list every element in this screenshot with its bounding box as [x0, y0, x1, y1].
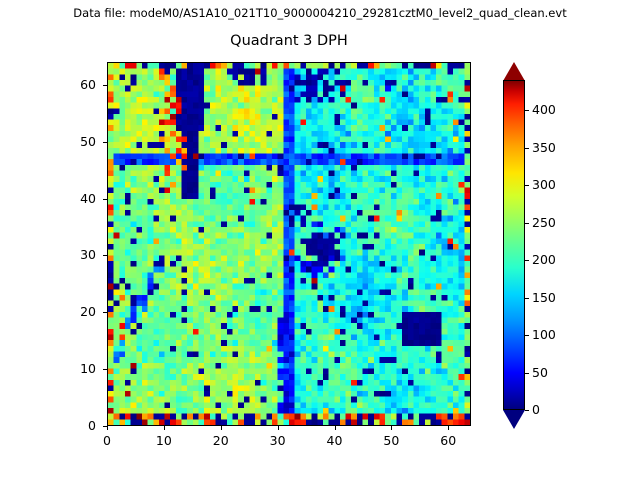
- y-tick-label: 50: [56, 134, 96, 149]
- x-tick-label: 60: [428, 433, 468, 448]
- colorbar-tick-label: 50: [532, 365, 548, 380]
- colorbar-tick-label: 150: [532, 290, 556, 305]
- x-tick-label: 30: [258, 433, 298, 448]
- colorbar-tick-mark: [525, 110, 529, 111]
- x-tick-mark: [278, 426, 279, 430]
- colorbar-tick-label: 100: [532, 327, 556, 342]
- matplotlib-figure: Data file: modeM0/AS1A10_021T10_90000042…: [0, 0, 640, 480]
- x-tick-mark: [391, 426, 392, 430]
- colorbar-tick-mark: [525, 223, 529, 224]
- x-tick-mark: [448, 426, 449, 430]
- y-tick-mark: [103, 312, 107, 313]
- colorbar-tick-label: 400: [532, 102, 556, 117]
- y-tick-mark: [103, 142, 107, 143]
- colorbar-tick-label: 300: [532, 177, 556, 192]
- colorbar-tick-mark: [525, 373, 529, 374]
- page-title: Quadrant 3 DPH: [107, 33, 471, 49]
- y-tick-mark: [103, 255, 107, 256]
- x-tick-mark: [107, 426, 108, 430]
- colorbar-tick-label: 200: [532, 252, 556, 267]
- colorbar-tick-mark: [525, 410, 529, 411]
- colorbar-tick-mark: [525, 260, 529, 261]
- x-tick-label: 20: [201, 433, 241, 448]
- y-tick-label: 60: [56, 77, 96, 92]
- colorbar-tick-mark: [525, 335, 529, 336]
- y-tick-label: 0: [56, 418, 96, 433]
- x-tick-mark: [164, 426, 165, 430]
- colorbar-tick-mark: [525, 148, 529, 149]
- colorbar-tick-mark: [525, 185, 529, 186]
- data-file-caption: Data file: modeM0/AS1A10_021T10_90000042…: [0, 6, 640, 20]
- y-tick-label: 30: [56, 247, 96, 262]
- colorbar-gradient: [504, 81, 524, 409]
- x-tick-mark: [221, 426, 222, 430]
- colorbar-tick-label: 0: [532, 402, 540, 417]
- y-tick-label: 20: [56, 304, 96, 319]
- x-tick-mark: [335, 426, 336, 430]
- x-tick-label: 40: [315, 433, 355, 448]
- colorbar-body: [503, 80, 525, 410]
- colorbar-over-arrow-icon: [503, 62, 525, 81]
- y-tick-label: 10: [56, 361, 96, 376]
- colorbar-tick-mark: [525, 298, 529, 299]
- y-tick-label: 40: [56, 191, 96, 206]
- x-tick-label: 10: [144, 433, 184, 448]
- x-tick-label: 0: [87, 433, 127, 448]
- x-tick-label: 50: [371, 433, 411, 448]
- colorbar-under-arrow-icon: [503, 410, 525, 429]
- y-tick-mark: [103, 199, 107, 200]
- colorbar-tick-label: 350: [532, 140, 556, 155]
- dph-heatmap-image: [108, 63, 470, 425]
- y-tick-mark: [103, 85, 107, 86]
- heatmap-axes: [107, 62, 471, 426]
- colorbar-tick-label: 250: [532, 215, 556, 230]
- colorbar: 050100150200250300350400: [503, 62, 525, 428]
- y-tick-mark: [103, 369, 107, 370]
- y-tick-mark: [103, 426, 107, 427]
